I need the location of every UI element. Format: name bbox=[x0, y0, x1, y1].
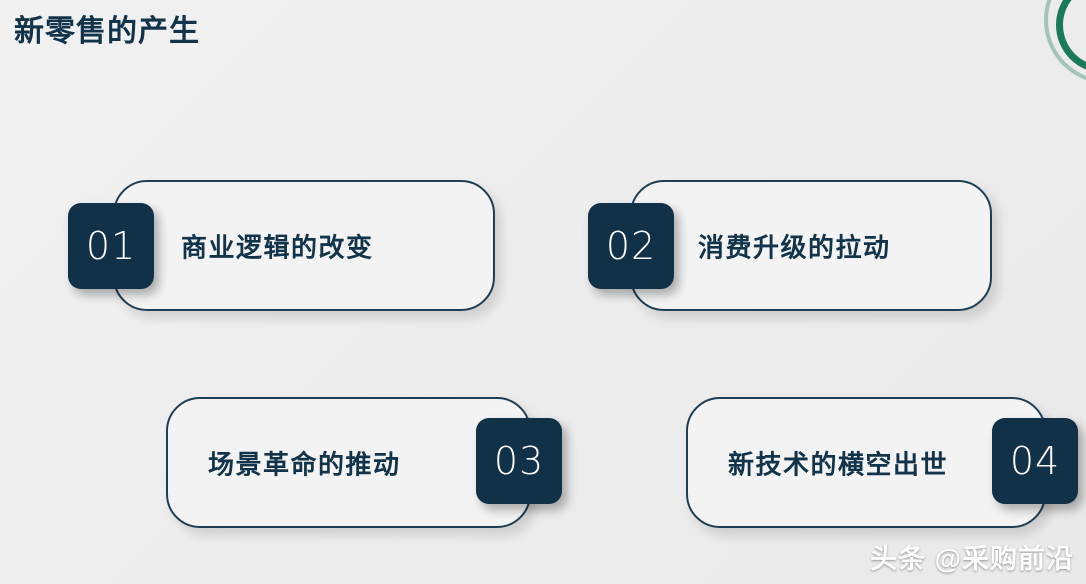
card-number-badge-01: 01 bbox=[68, 203, 154, 289]
card-label-04: 新技术的横空出世 bbox=[728, 444, 948, 481]
card-label-02: 消费升级的拉动 bbox=[698, 227, 891, 264]
page-title: 新零售的产生 bbox=[14, 12, 200, 52]
card-number-badge-02: 02 bbox=[588, 203, 674, 289]
card-label-01: 商业逻辑的改变 bbox=[181, 227, 374, 264]
card-number-badge-04: 04 bbox=[992, 418, 1078, 504]
content-card-02[interactable]: 消费升级的拉动 bbox=[630, 180, 992, 311]
card-label-03: 场景革命的推动 bbox=[208, 444, 401, 481]
content-card-01[interactable]: 商业逻辑的改变 bbox=[113, 180, 495, 311]
card-number-01: 01 bbox=[86, 227, 136, 265]
watermark: 头条 @采购前沿 bbox=[870, 537, 1074, 576]
card-number-03: 03 bbox=[494, 442, 544, 480]
card-number-02: 02 bbox=[606, 227, 656, 265]
card-number-badge-03: 03 bbox=[476, 418, 562, 504]
card-number-04: 04 bbox=[1010, 442, 1060, 480]
slide-canvas: 新零售的产生 商业逻辑的改变 01 消费升级的拉动 02 场景革命的推动 03 … bbox=[0, 0, 1086, 584]
